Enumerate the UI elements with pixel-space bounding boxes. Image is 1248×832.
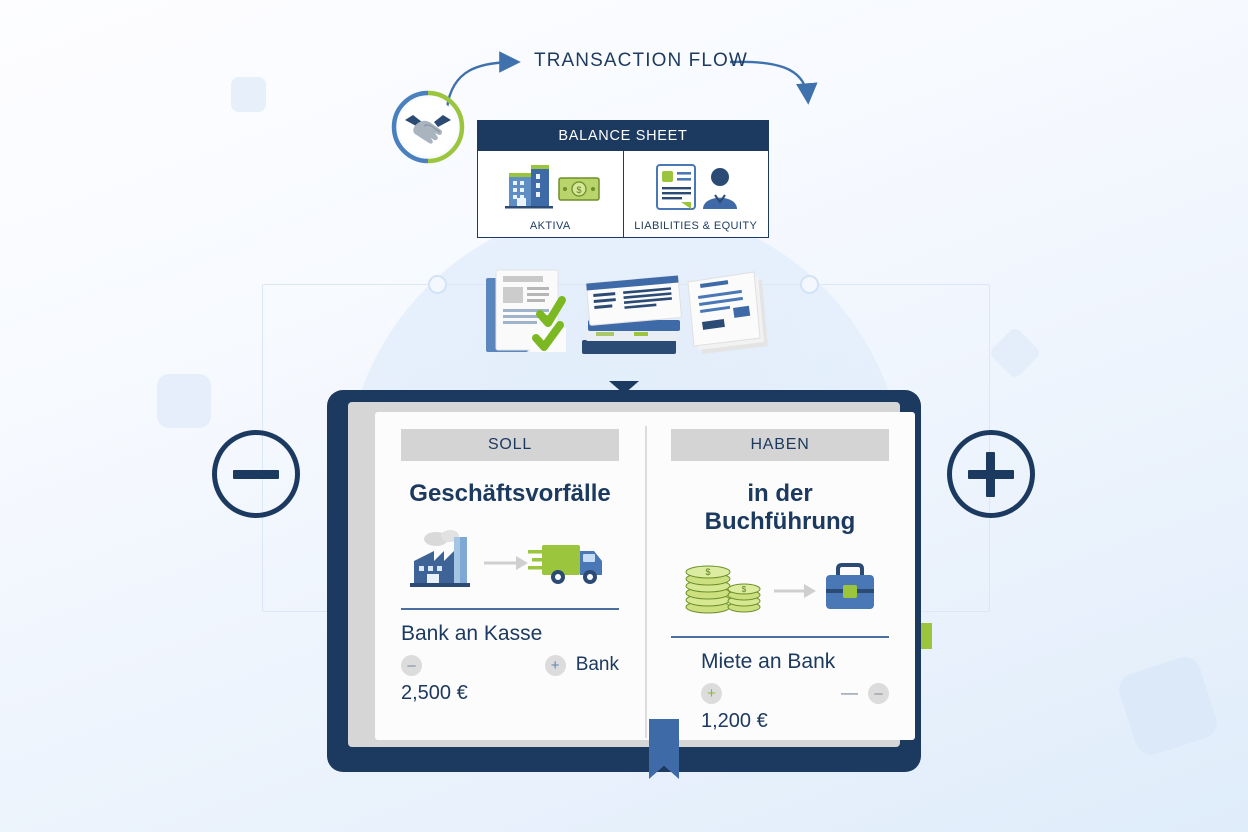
right-entry-title: Miete an Bank	[671, 650, 889, 674]
left-page: SOLL Geschäftsvorfälle	[375, 412, 645, 740]
open-book: SOLL Geschäftsvorfälle	[327, 390, 921, 772]
right-page-header: HABEN	[671, 429, 889, 461]
balance-column-assets: $ AKTIVA	[478, 151, 624, 237]
checked-document-icon	[486, 270, 566, 352]
documents-cluster	[478, 262, 782, 366]
right-page-rule	[671, 636, 889, 638]
left-entry-badges: – + Bank	[401, 652, 619, 678]
assets-icons: $	[495, 151, 605, 220]
right-page-icons: $ $	[671, 544, 889, 632]
coin-stack-icon: $ $	[686, 566, 760, 613]
flow-title: TRANSACTION FLOW	[534, 50, 748, 72]
minus-bar	[233, 470, 279, 479]
person-icon	[703, 168, 737, 209]
arrow-right-icon	[484, 556, 528, 570]
minus-circle-icon[interactable]	[212, 430, 300, 518]
dash-mark: —	[841, 683, 858, 703]
factory-icon	[410, 530, 470, 587]
decor-node-right	[800, 275, 819, 294]
book-inner-pages: SOLL Geschäftsvorfälle	[348, 402, 900, 747]
book-notch	[609, 381, 639, 394]
document-person-icon	[643, 161, 748, 211]
liabilities-icons	[643, 151, 748, 220]
decor-square-left	[157, 374, 211, 428]
left-entry-amount: 2,500 €	[401, 682, 619, 705]
balance-sheet-card: BALANCE SHEET	[477, 120, 769, 238]
svg-text:$: $	[742, 585, 747, 594]
office-building-icon: $	[495, 162, 605, 210]
left-entry-title: Bank an Kasse	[401, 622, 619, 646]
document-stack-icon	[582, 276, 682, 354]
minus-badge[interactable]: –	[401, 655, 422, 676]
left-page-rule	[401, 608, 619, 610]
assets-caption: AKTIVA	[530, 220, 571, 232]
svg-text:$: $	[705, 567, 710, 577]
svg-text:$: $	[577, 185, 582, 195]
handshake-icon	[391, 90, 465, 164]
delivery-truck-icon	[528, 545, 602, 584]
decor-square-bottom-right	[1115, 653, 1221, 759]
paper-pile-icon	[688, 272, 768, 354]
balance-sheet-title: BALANCE SHEET	[478, 121, 768, 151]
book-pages: SOLL Geschäftsvorfälle	[375, 412, 915, 740]
arrow-right-icon	[774, 584, 816, 598]
banknote-icon: $	[559, 178, 599, 200]
left-page-subtitle: Geschäftsvorfälle	[401, 480, 619, 508]
left-badge-label: Bank	[576, 654, 619, 676]
balance-column-liabilities: LIABILITIES & EQUITY	[624, 151, 769, 237]
right-entry-badges: + — –	[671, 680, 889, 706]
bookmark-ribbon	[649, 719, 679, 779]
plus-bar-vertical	[986, 452, 995, 497]
left-page-icons	[401, 516, 619, 604]
right-page: HABEN in der Buchführung	[645, 412, 915, 740]
infographic-canvas: TRANSACTION FLOW BALANCE SHEET	[0, 0, 1248, 832]
right-entry-amount: 1,200 €	[671, 710, 889, 733]
liabilities-caption: LIABILITIES & EQUITY	[634, 220, 757, 232]
right-page-subtitle: in der Buchführung	[671, 480, 889, 536]
left-page-header: SOLL	[401, 429, 619, 461]
balance-sheet-body: $ AKTIVA	[478, 151, 768, 237]
decor-node-left	[428, 275, 447, 294]
plus-badge[interactable]: +	[545, 655, 566, 676]
plus-circle-icon[interactable]	[947, 430, 1035, 518]
minus-badge[interactable]: –	[868, 683, 889, 704]
plus-badge[interactable]: +	[701, 683, 722, 704]
briefcase-icon	[826, 565, 874, 609]
decor-diamond-right	[988, 326, 1042, 380]
